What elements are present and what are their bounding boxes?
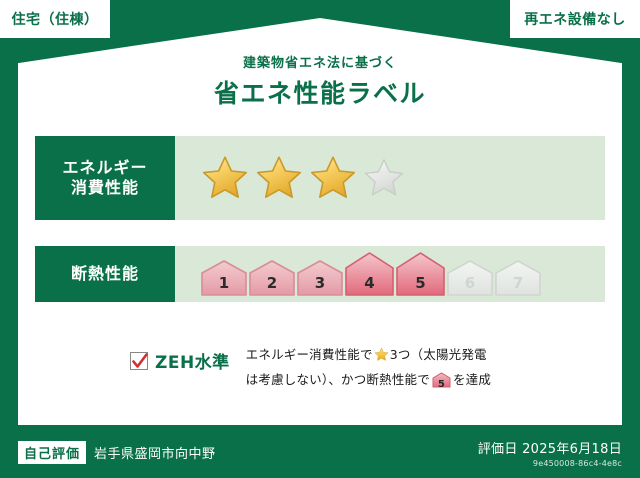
zeh-description: エネルギー消費性能で3つ（太陽光発電 は考慮しない）、かつ断熱性能で5を達成 — [246, 344, 491, 391]
star-filled-icon — [309, 154, 357, 202]
insulation-level-badge: 7 — [495, 260, 541, 296]
zeh-check-group: ZEH水準 — [130, 344, 230, 373]
insulation-performance-value: 1234567 — [175, 246, 605, 302]
checkmark-icon — [132, 353, 148, 371]
renewable-equipment-tag: 再エネ設備なし — [510, 0, 640, 38]
energy-performance-row: エネルギー 消費性能 — [35, 136, 605, 220]
insulation-level-value: 7 — [513, 274, 523, 296]
insulation-level-badge: 4 — [345, 252, 394, 296]
insulation-level-badge: 3 — [297, 260, 343, 296]
building-type-tag: 住宅（住棟） — [0, 0, 110, 38]
insulation-level-scale: 1234567 — [201, 252, 541, 296]
zeh-checkbox[interactable] — [130, 352, 148, 370]
page-title: 省エネ性能ラベル — [0, 74, 640, 110]
footer-right-group: 評価日 2025年6月18日 9e450008-86c4-4e8c — [478, 438, 622, 468]
energy-label-line1: エネルギー — [62, 158, 147, 178]
evaluation-id: 9e450008-86c4-4e8c — [478, 459, 622, 468]
star-filled-icon — [255, 154, 303, 202]
insulation-level-value: 4 — [364, 274, 374, 296]
inline-star-icon — [374, 347, 389, 369]
title-subtitle: 建築物省エネ法に基づく — [0, 52, 640, 71]
zeh-label: ZEH水準 — [155, 348, 230, 373]
zeh-description-line2: は考慮しない）、かつ断熱性能で5を達成 — [246, 369, 491, 391]
insulation-label-line1: 断熱性能 — [71, 264, 139, 284]
star-empty-icon — [363, 157, 405, 199]
star-filled-icon — [201, 154, 249, 202]
insulation-level-value: 1 — [219, 274, 229, 296]
energy-label-card: 住宅（住棟） 再エネ設備なし 建築物省エネ法に基づく 省エネ性能ラベル エネルギ… — [0, 0, 640, 478]
insulation-level-value: 2 — [267, 274, 277, 296]
energy-performance-value — [175, 136, 605, 220]
zeh-description-line1: エネルギー消費性能で3つ（太陽光発電 — [246, 344, 491, 369]
title-block: 建築物省エネ法に基づく 省エネ性能ラベル — [0, 52, 640, 110]
zeh-desc-text-b: 3つ（太陽光発電 — [390, 347, 487, 362]
inline-level-badge: 5 — [432, 372, 451, 387]
energy-performance-label: エネルギー 消費性能 — [35, 136, 175, 220]
insulation-level-value: 6 — [465, 274, 475, 296]
insulation-level-badge: 1 — [201, 260, 247, 296]
star-rating — [201, 154, 405, 202]
insulation-performance-label: 断熱性能 — [35, 246, 175, 302]
insulation-level-value: 5 — [415, 274, 425, 296]
property-address: 岩手県盛岡市向中野 — [94, 443, 216, 462]
zeh-standard-block: ZEH水準 エネルギー消費性能で3つ（太陽光発電 は考慮しない）、かつ断熱性能で… — [130, 344, 550, 391]
zeh-desc-text-d: を達成 — [453, 372, 491, 387]
zeh-desc-text-c: は考慮しない）、かつ断熱性能で — [246, 372, 430, 387]
evaluation-date-value: 2025年6月18日 — [522, 442, 622, 457]
footer-left-group: 自己評価 岩手県盛岡市向中野 — [18, 441, 216, 464]
insulation-level-badge: 5 — [396, 252, 445, 296]
evaluation-date: 評価日 2025年6月18日 — [478, 438, 622, 457]
insulation-level-badge: 6 — [447, 260, 493, 296]
evaluation-date-label: 評価日 — [478, 442, 518, 457]
inline-level-badge-value: 5 — [438, 379, 445, 390]
insulation-level-badge: 2 — [249, 260, 295, 296]
self-evaluation-tag: 自己評価 — [18, 441, 86, 464]
insulation-level-value: 3 — [315, 274, 325, 296]
energy-label-line2: 消費性能 — [71, 178, 139, 198]
zeh-desc-text-a: エネルギー消費性能で — [246, 347, 373, 362]
insulation-performance-row: 断熱性能 1234567 — [35, 246, 605, 302]
